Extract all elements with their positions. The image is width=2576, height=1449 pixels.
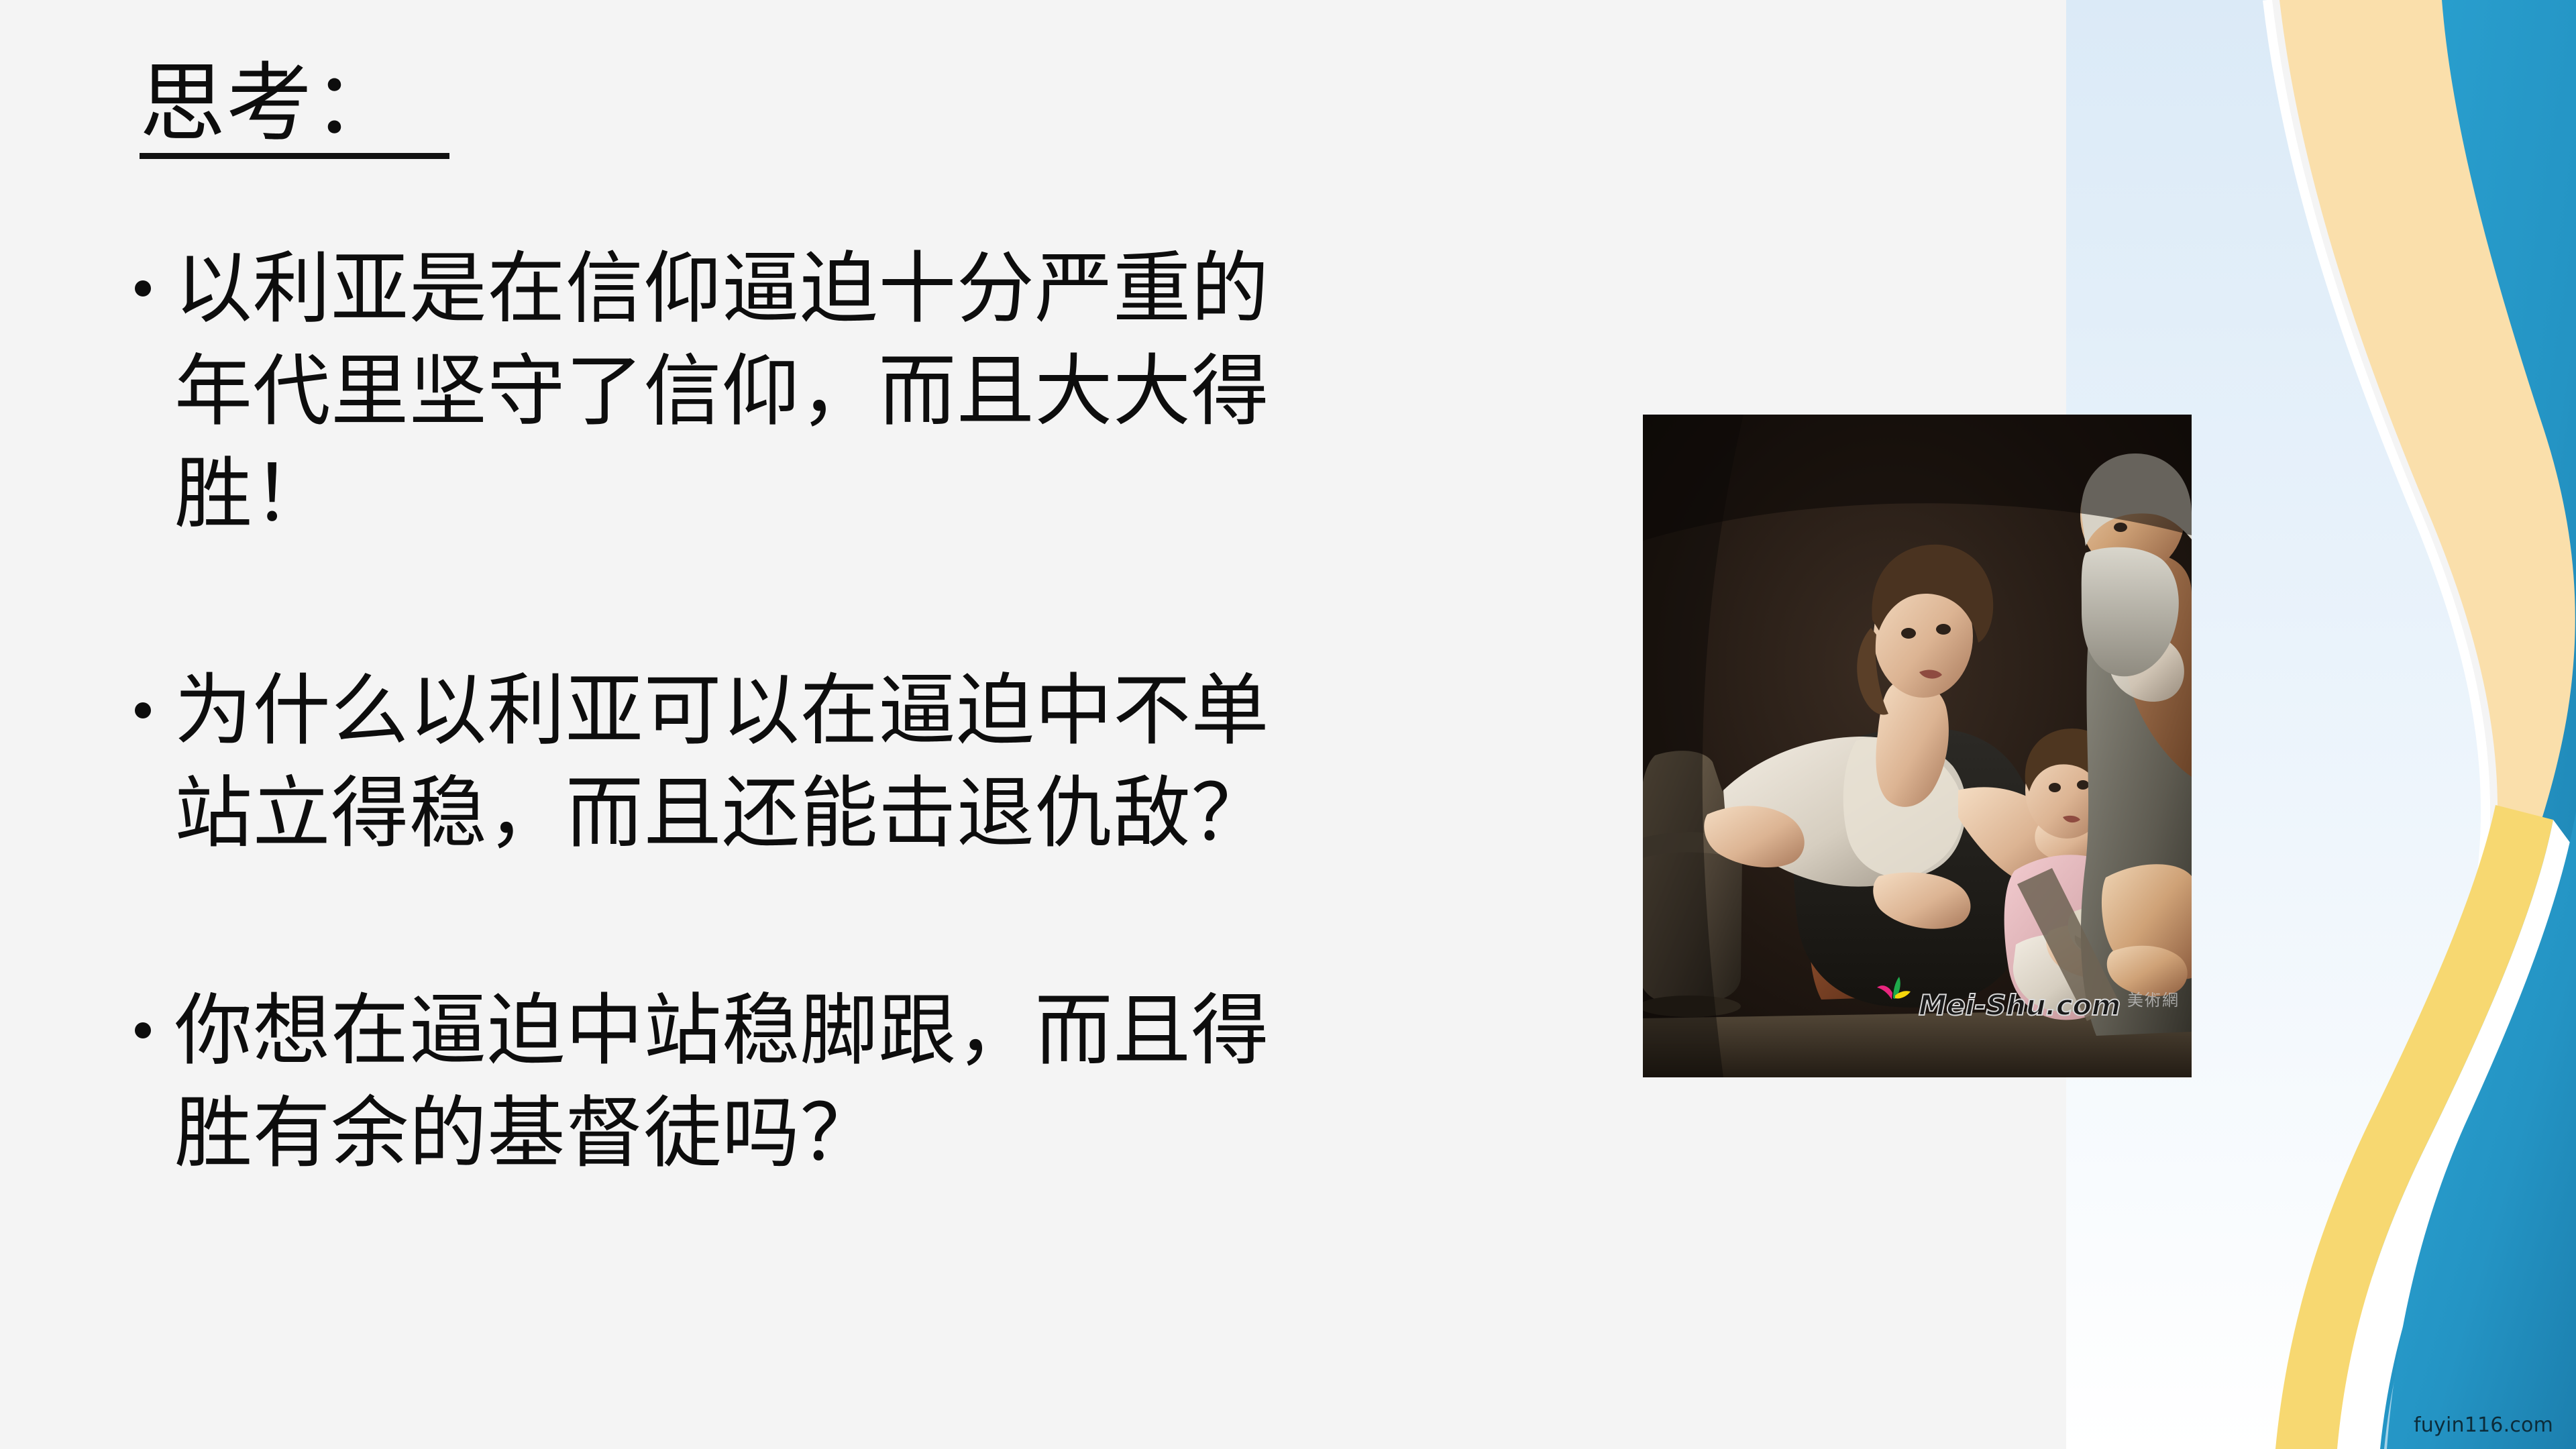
painting-image: Mei-Shu.com 美術網 [1643,415,2192,1077]
bullet-text: 以利亚是在信仰逼迫十分严重的 年代里坚守了信仰，而且大大得 胜！ [174,239,1574,547]
bullet-line: 胜！ [174,444,1574,547]
bullet-line: 以利亚是在信仰逼迫十分严重的 [174,239,1574,341]
bullet-line: 胜有余的基督徒吗？ [174,1083,1574,1186]
wave-cream-band [2279,0,2576,1449]
bullet-marker-icon [131,702,154,718]
page-title: 思考： [140,59,743,159]
bullet-marker-icon [131,280,154,297]
bullet-line: 站立得稳，而且还能击退仇敌？ [174,763,1574,866]
wave-gold-ribbon [2275,805,2553,1449]
wave-light-blue-inner [2384,872,2576,1449]
bullet-line: 为什么以利亚可以在逼迫中不单 [174,661,1574,763]
painting-widow-eye-right [1936,624,1951,635]
slide-canvas: 思考： 以利亚是在信仰逼迫十分严重的 年代里坚守了信仰，而且大大得 胜！ 为什么… [0,0,2576,1449]
painting-widow-eye-left [1901,628,1916,639]
wave-blue-body [2351,0,2576,1449]
painting-prophet-eye [2114,523,2127,532]
bullet-text: 你想在逼迫中站稳脚跟，而且得 胜有余的基督徒吗？ [174,981,1574,1186]
painting-child-eye-left [2049,783,2061,792]
list-item: 你想在逼迫中站稳脚跟，而且得 胜有余的基督徒吗？ [131,981,1574,1186]
footer-site-mark: fuyin116.com [2414,1413,2553,1437]
bullet-line: 年代里坚守了信仰，而且大大得 [174,341,1574,444]
list-item: 为什么以利亚可以在逼迫中不单 站立得稳，而且还能击退仇敌？ [131,661,1574,866]
wave-blue-field [2387,812,2576,1449]
bullet-text: 为什么以利亚可以在逼迫中不单 站立得稳，而且还能击退仇敌？ [174,661,1574,866]
title-underline [140,153,449,159]
bullet-line: 你想在逼迫中站稳脚跟，而且得 [174,981,1574,1083]
bullet-marker-icon [131,1022,154,1038]
wave-white-gap [2337,820,2576,1449]
list-item: 以利亚是在信仰逼迫十分严重的 年代里坚守了信仰，而且大大得 胜！ [131,239,1574,547]
title-text: 思考： [140,59,743,149]
wave-white-edge [2267,0,2485,1449]
painting-child-eye-right [2077,780,2089,790]
bullet-list: 以利亚是在信仰逼迫十分严重的 年代里坚守了信仰，而且大大得 胜！ 为什么以利亚可… [131,239,1574,1186]
